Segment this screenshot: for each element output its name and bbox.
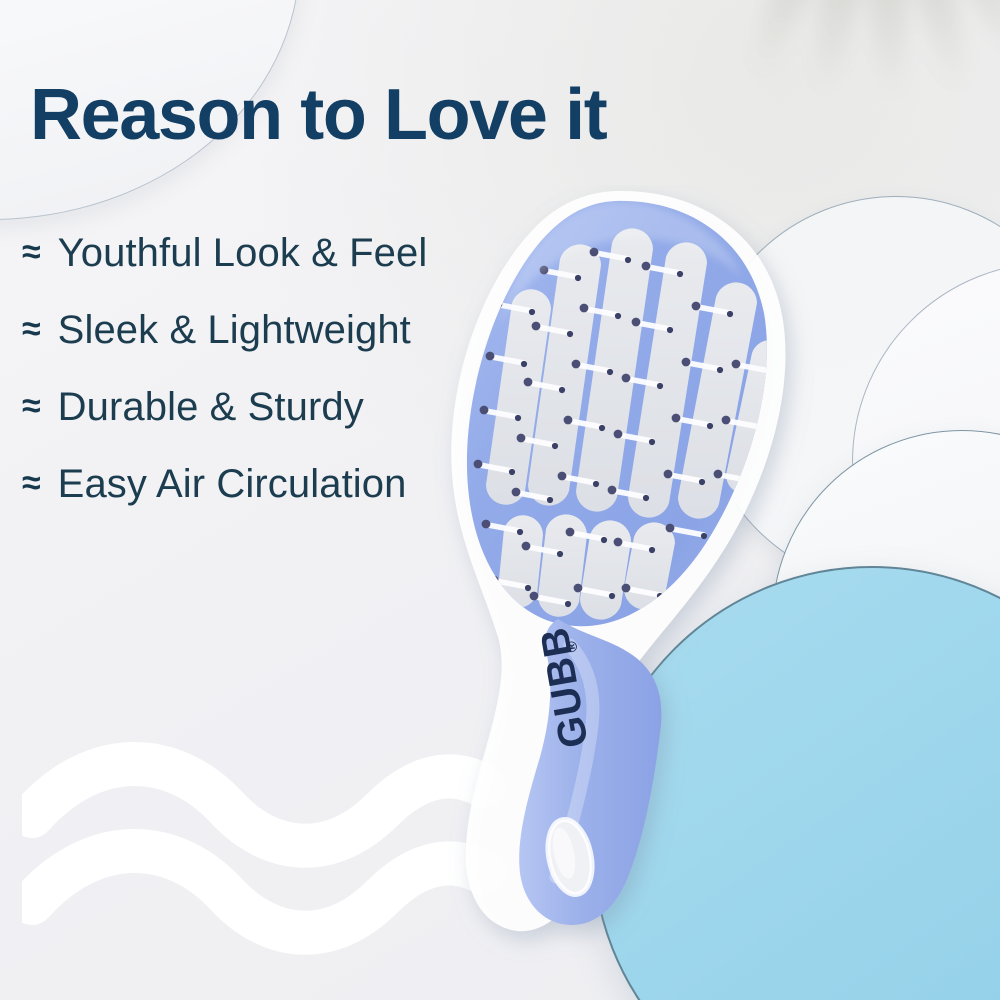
list-item: ≈ Easy Air Circulation: [22, 464, 542, 541]
wave-watermark-icon: [22, 738, 532, 958]
wave-bullet-icon: ≈: [22, 312, 41, 346]
feature-list: ≈ Youthful Look & Feel ≈ Sleek & Lightwe…: [22, 233, 542, 541]
feature-label: Easy Air Circulation: [58, 464, 407, 504]
feature-label: Durable & Sturdy: [58, 387, 364, 427]
list-item: ≈ Durable & Sturdy: [22, 387, 542, 464]
feature-label: Youthful Look & Feel: [58, 233, 428, 273]
wave-bullet-icon: ≈: [22, 466, 41, 500]
decor-circle-blue: [592, 566, 1000, 1000]
brand-logo-text: GUBB: [532, 624, 596, 752]
list-item: ≈ Sleek & Lightweight: [22, 310, 542, 387]
wave-bullet-icon: ≈: [22, 389, 41, 423]
promo-canvas: Reason to Love it ≈ Youthful Look & Feel…: [0, 0, 1000, 1000]
wave-bullet-icon: ≈: [22, 235, 41, 269]
list-item: ≈ Youthful Look & Feel: [22, 233, 542, 310]
registered-trademark-icon: ®: [563, 640, 582, 654]
feature-label: Sleek & Lightweight: [58, 310, 411, 350]
page-title: Reason to Love it: [30, 79, 606, 151]
